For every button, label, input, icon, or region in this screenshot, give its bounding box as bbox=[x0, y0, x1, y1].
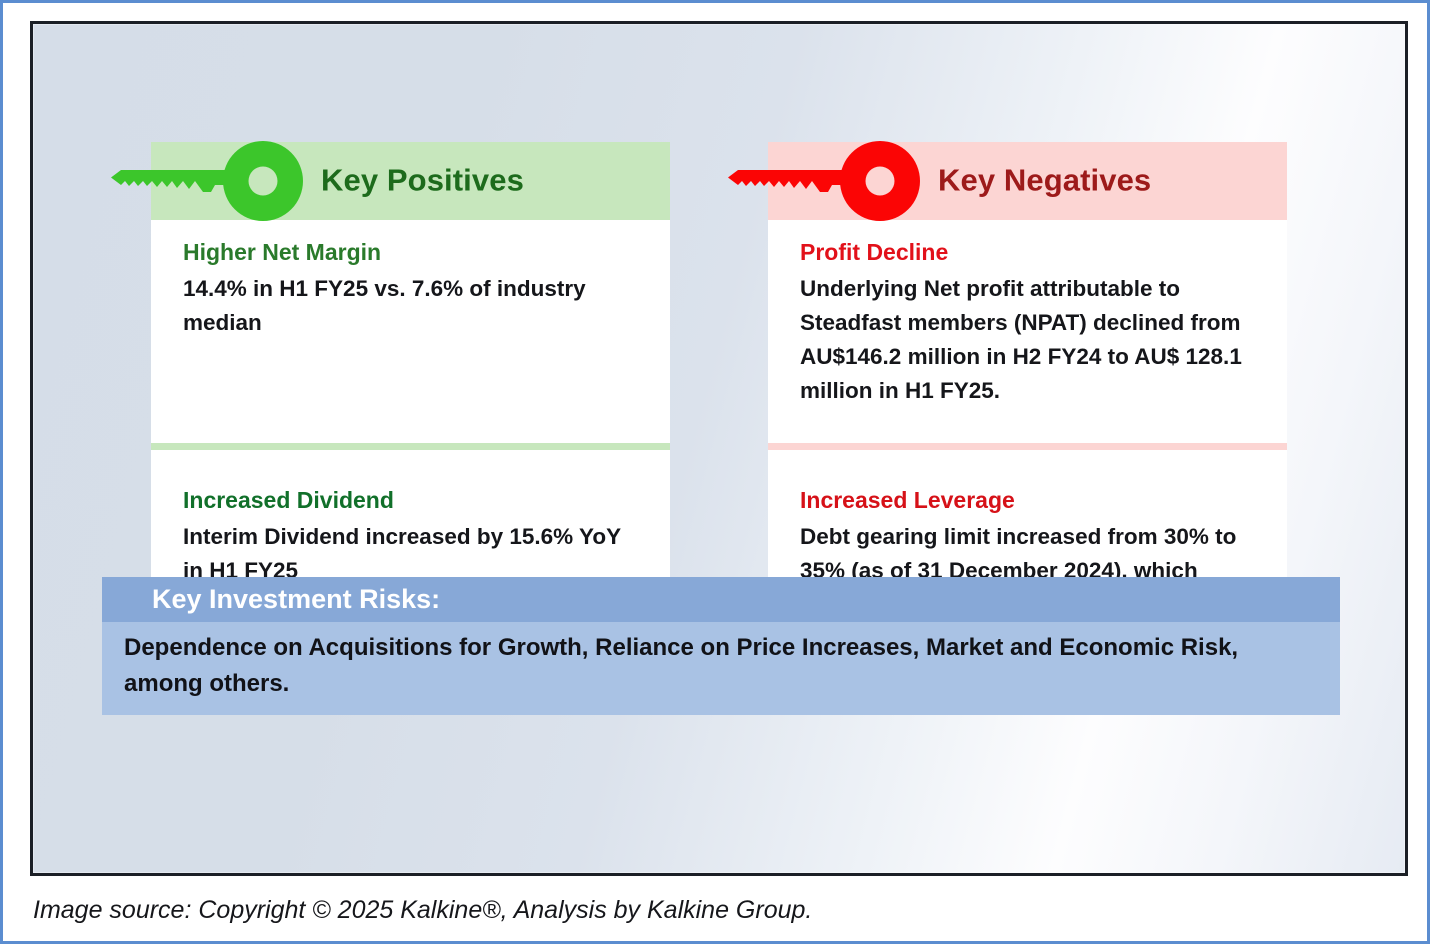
key-investment-risks-text: Dependence on Acquisitions for Growth, R… bbox=[124, 634, 1238, 697]
panel-divider-positives bbox=[151, 443, 670, 450]
image-source-caption: Image source: Copyright © 2025 Kalkine®,… bbox=[33, 896, 812, 925]
panel-title-key-positives: Key Positives bbox=[321, 162, 524, 198]
item-title-higher-net-margin: Higher Net Margin bbox=[183, 238, 636, 268]
panel-title-key-negatives: Key Negatives bbox=[938, 162, 1151, 198]
key-icon bbox=[111, 140, 307, 222]
panel-header-key-positives: Key Positives bbox=[151, 142, 670, 220]
item-profit-decline: Profit Decline Underlying Net profit att… bbox=[768, 220, 1287, 443]
key-icon bbox=[728, 140, 924, 222]
key-investment-risks-body: Dependence on Acquisitions for Growth, R… bbox=[102, 622, 1340, 715]
panel-header-key-negatives: Key Negatives bbox=[768, 142, 1287, 220]
item-title-increased-leverage: Increased Leverage bbox=[800, 486, 1253, 516]
item-text-higher-net-margin: 14.4% in H1 FY25 vs. 7.6% of industry me… bbox=[183, 272, 636, 340]
key-investment-risks-title: Key Investment Risks: bbox=[152, 584, 440, 614]
item-title-increased-dividend: Increased Dividend bbox=[183, 486, 636, 516]
infographic-frame: Key Positives Higher Net Margin 14.4% in… bbox=[30, 21, 1408, 876]
key-investment-risks-header: Key Investment Risks: bbox=[102, 577, 1340, 622]
page-root: Key Positives Higher Net Margin 14.4% in… bbox=[0, 0, 1430, 944]
item-text-profit-decline: Underlying Net profit attributable to St… bbox=[800, 272, 1253, 409]
item-higher-net-margin: Higher Net Margin 14.4% in H1 FY25 vs. 7… bbox=[151, 220, 670, 443]
item-title-profit-decline: Profit Decline bbox=[800, 238, 1253, 268]
key-investment-risks: Key Investment Risks: Dependence on Acqu… bbox=[102, 577, 1340, 715]
panel-divider-negatives bbox=[768, 443, 1287, 450]
